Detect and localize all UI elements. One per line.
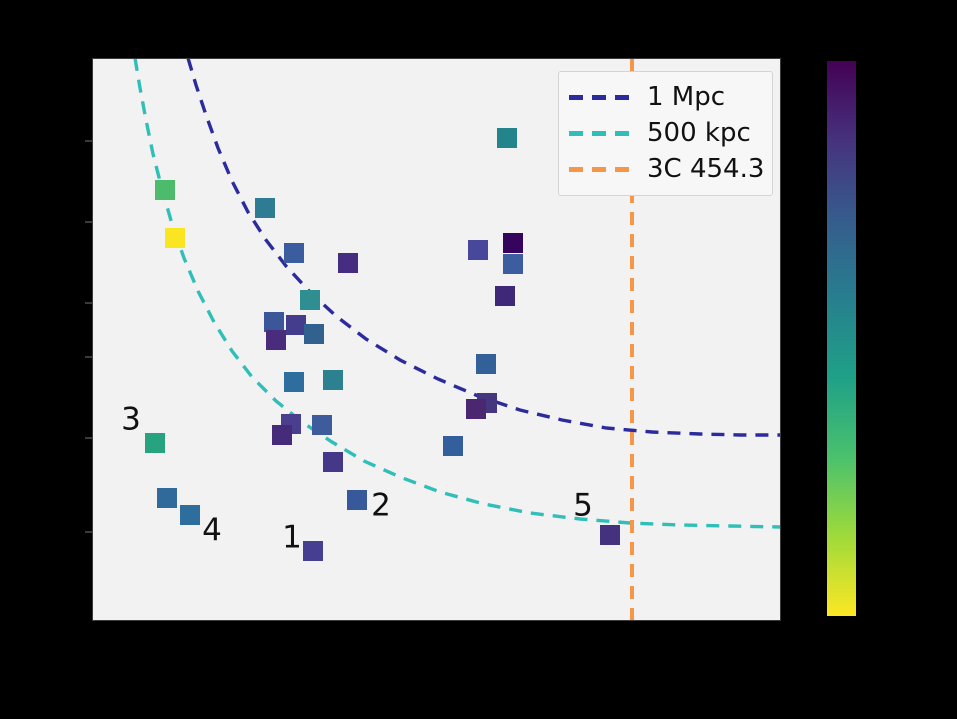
y-axis-tick [85, 140, 92, 142]
scatter-point[interactable] [157, 488, 177, 508]
colorbar-gradient [827, 61, 856, 616]
scatter-point[interactable] [466, 399, 486, 419]
scatter-point[interactable] [145, 433, 165, 453]
legend-line-swatch-3c-454-3 [569, 167, 635, 172]
y-axis-tick [85, 531, 92, 533]
legend-label-1-mpc: 1 Mpc [647, 84, 725, 110]
scatter-point[interactable] [266, 330, 286, 350]
scatter-point[interactable] [476, 354, 496, 374]
scatter-point[interactable] [155, 180, 175, 200]
figure-canvas: 34125 1 Mpc 500 kpc 3C 454.3 [0, 0, 957, 719]
scatter-point[interactable] [443, 436, 463, 456]
scatter-point[interactable] [304, 324, 324, 344]
scatter-point[interactable] [468, 240, 488, 260]
y-axis-tick [85, 356, 92, 358]
y-axis-tick [85, 437, 92, 439]
y-axis-tick [85, 302, 92, 304]
scatter-point[interactable] [284, 243, 304, 263]
annotation-1: 1 [282, 523, 302, 554]
annotation-4: 4 [202, 516, 222, 547]
scatter-point[interactable] [323, 452, 343, 472]
annotation-2: 2 [371, 491, 391, 522]
scatter-point[interactable] [255, 198, 275, 218]
scatter-point[interactable] [503, 233, 523, 253]
scatter-point[interactable] [312, 415, 332, 435]
scatter-point[interactable] [338, 253, 358, 273]
annotation-3: 3 [121, 405, 141, 436]
legend-label-500-kpc: 500 kpc [647, 120, 751, 146]
scatter-point[interactable] [347, 490, 367, 510]
scatter-point[interactable] [264, 312, 284, 332]
colorbar [827, 61, 856, 616]
plot-legend[interactable]: 1 Mpc 500 kpc 3C 454.3 [558, 71, 773, 196]
legend-entry-3c-454-3[interactable]: 3C 454.3 [569, 151, 762, 187]
scatter-point[interactable] [272, 425, 292, 445]
scatter-point[interactable] [165, 228, 185, 248]
y-axis-tick [85, 221, 92, 223]
scatter-point[interactable] [286, 315, 306, 335]
legend-line-swatch-1-mpc [569, 95, 635, 100]
scatter-point[interactable] [180, 505, 200, 525]
scatter-point[interactable] [497, 128, 517, 148]
legend-label-3c-454-3: 3C 454.3 [647, 156, 764, 182]
scatter-point[interactable] [323, 370, 343, 390]
scatter-point[interactable] [503, 254, 523, 274]
scatter-point[interactable] [600, 525, 620, 545]
annotation-5: 5 [573, 491, 593, 522]
scatter-point[interactable] [495, 286, 515, 306]
scatter-point[interactable] [300, 290, 320, 310]
legend-entry-500-kpc[interactable]: 500 kpc [569, 115, 762, 151]
scatter-point[interactable] [284, 372, 304, 392]
legend-line-swatch-500-kpc [569, 131, 635, 136]
scatter-point[interactable] [303, 541, 323, 561]
legend-entry-1-mpc[interactable]: 1 Mpc [569, 79, 762, 115]
